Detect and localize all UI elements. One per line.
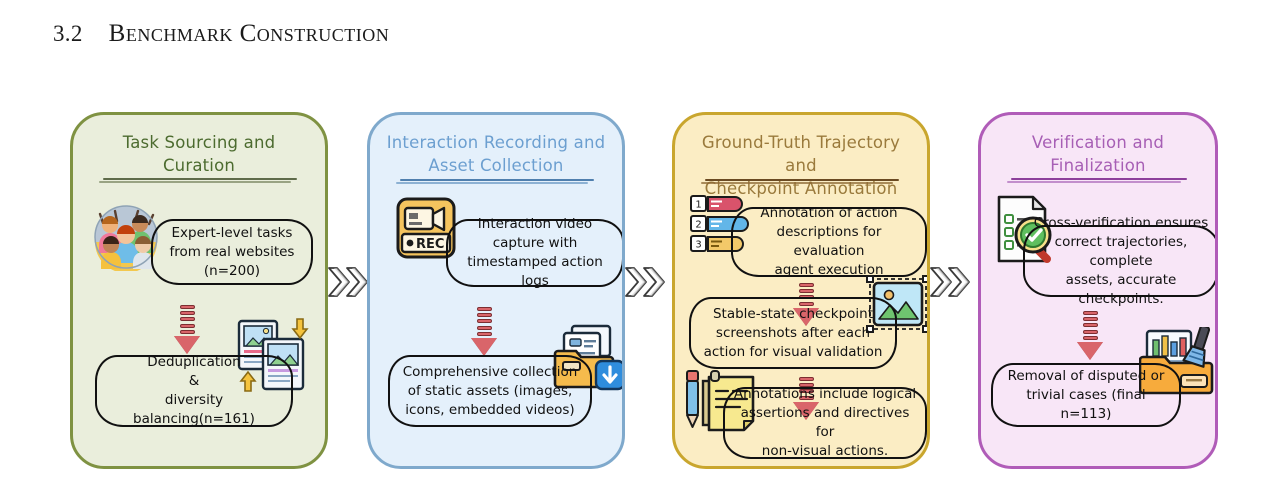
- svg-text:REC: REC: [416, 237, 444, 252]
- flow-arrow-down: [471, 307, 497, 356]
- chevron-connector-2: [622, 262, 674, 302]
- section-heading: 3.2 Benchmark Construction: [53, 20, 389, 48]
- callout-expert-tasks[interactable]: Expert-level tasks from real websites (n…: [151, 219, 313, 285]
- title-divider: [701, 179, 901, 185]
- callout-text: Cross-verification ensures correct traje…: [1033, 214, 1209, 309]
- title-divider: [396, 179, 596, 185]
- callout-text: Deduplication & diversity balancing(n=16…: [105, 353, 283, 429]
- benchmark-construction-flow: Task Sourcing and Curation: [0, 104, 1288, 479]
- svg-text:1: 1: [695, 200, 701, 211]
- stage-title: Ground-Truth Trajectory and Checkpoint A…: [675, 131, 927, 200]
- stage-panel-interaction-recording[interactable]: Interaction Recording and Asset Collecti…: [367, 112, 625, 469]
- callout-text: Expert-level tasks from real websites (n…: [170, 224, 295, 281]
- stage-title-line1: Interaction Recording and: [387, 133, 606, 152]
- stage-title: Interaction Recording and Asset Collecti…: [370, 131, 622, 177]
- callout-text: Stable-state checkpoint screenshots afte…: [704, 305, 883, 362]
- callout-text: Annotation of action descriptions for ev…: [741, 204, 917, 280]
- callout-interaction-video[interactable]: Interaction video capture with timestamp…: [446, 219, 624, 287]
- callout-removal-disputed[interactable]: Removal of disputed or trivial cases (fi…: [991, 363, 1181, 427]
- svg-text:3: 3: [695, 240, 701, 251]
- flow-arrow-down: [1077, 311, 1103, 360]
- stage-panel-ground-truth-trajectory[interactable]: Ground-Truth Trajectory and Checkpoint A…: [672, 112, 930, 469]
- callout-action-annotation[interactable]: Annotation of action descriptions for ev…: [731, 207, 927, 277]
- stage-panel-task-sourcing[interactable]: Task Sourcing and Curation: [70, 112, 328, 469]
- stage-panel-verification-finalization[interactable]: Verification and Finalization: [978, 112, 1218, 469]
- flow-arrow-down: [174, 305, 200, 354]
- title-divider: [99, 178, 299, 184]
- callout-logical-assertions[interactable]: Annotations include logical assertions a…: [723, 387, 927, 459]
- callout-static-assets[interactable]: Comprehensive collection of static asset…: [388, 355, 592, 427]
- svg-text:2: 2: [695, 220, 701, 231]
- callout-text: Interaction video capture with timestamp…: [456, 215, 614, 291]
- stage-title: Task Sourcing and Curation: [73, 131, 325, 177]
- stage-title-line1: Ground-Truth Trajectory and: [702, 133, 900, 175]
- title-divider: [1007, 178, 1189, 184]
- stage-title-line2: Asset Collection: [428, 156, 563, 175]
- section-number: 3.2: [53, 21, 83, 47]
- callout-checkpoint-screenshots[interactable]: Stable-state checkpoint screenshots afte…: [689, 297, 897, 369]
- callout-text: Comprehensive collection of static asset…: [403, 363, 578, 420]
- page-title: Benchmark Construction: [109, 20, 390, 48]
- stage-title: Verification and Finalization: [981, 131, 1215, 177]
- callout-cross-verification[interactable]: Cross-verification ensures correct traje…: [1023, 225, 1218, 297]
- callout-deduplication[interactable]: Deduplication & diversity balancing(n=16…: [95, 355, 293, 427]
- callout-text: Removal of disputed or trivial cases (fi…: [1001, 367, 1171, 424]
- chevron-connector-3: [927, 262, 979, 302]
- callout-text: Annotations include logical assertions a…: [733, 385, 917, 461]
